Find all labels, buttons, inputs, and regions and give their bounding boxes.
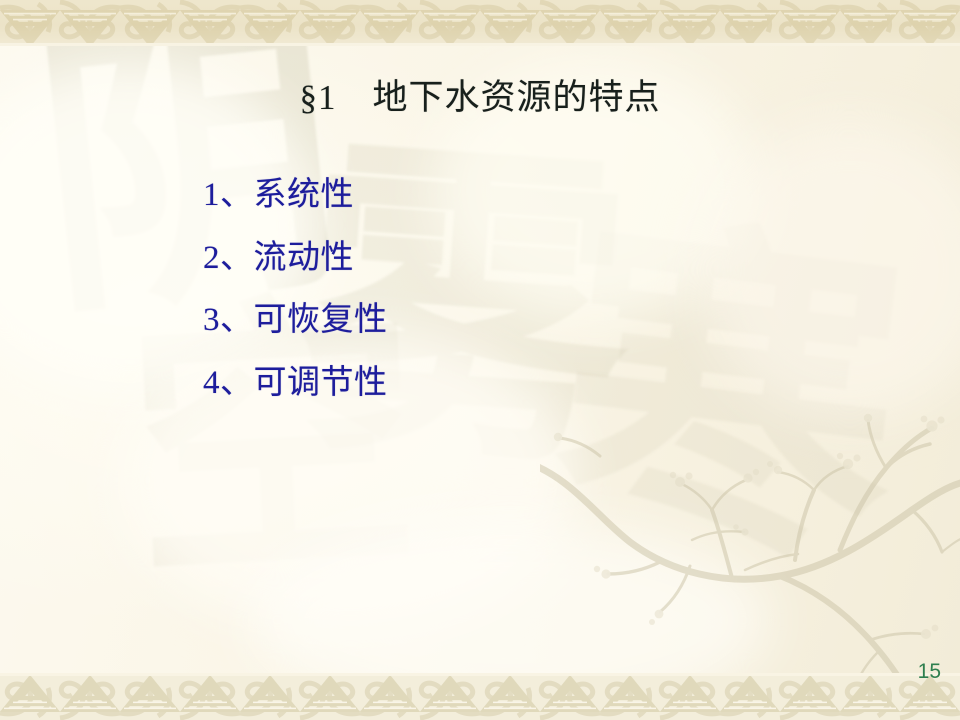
list-item: 2、流动性 <box>203 241 723 276</box>
list-item: 4、可调节性 <box>203 366 723 401</box>
bullet-list: 1、系统性 2、流动性 3、可恢复性 4、可调节性 <box>203 178 723 401</box>
presentation-slide: 阴 雾 空 寒 <box>0 0 960 720</box>
list-item: 1、系统性 <box>203 178 723 213</box>
slide-title: §1 地下水资源的特点 <box>0 78 960 118</box>
list-item: 3、可恢复性 <box>203 303 723 338</box>
page-number: 15 <box>918 660 941 684</box>
